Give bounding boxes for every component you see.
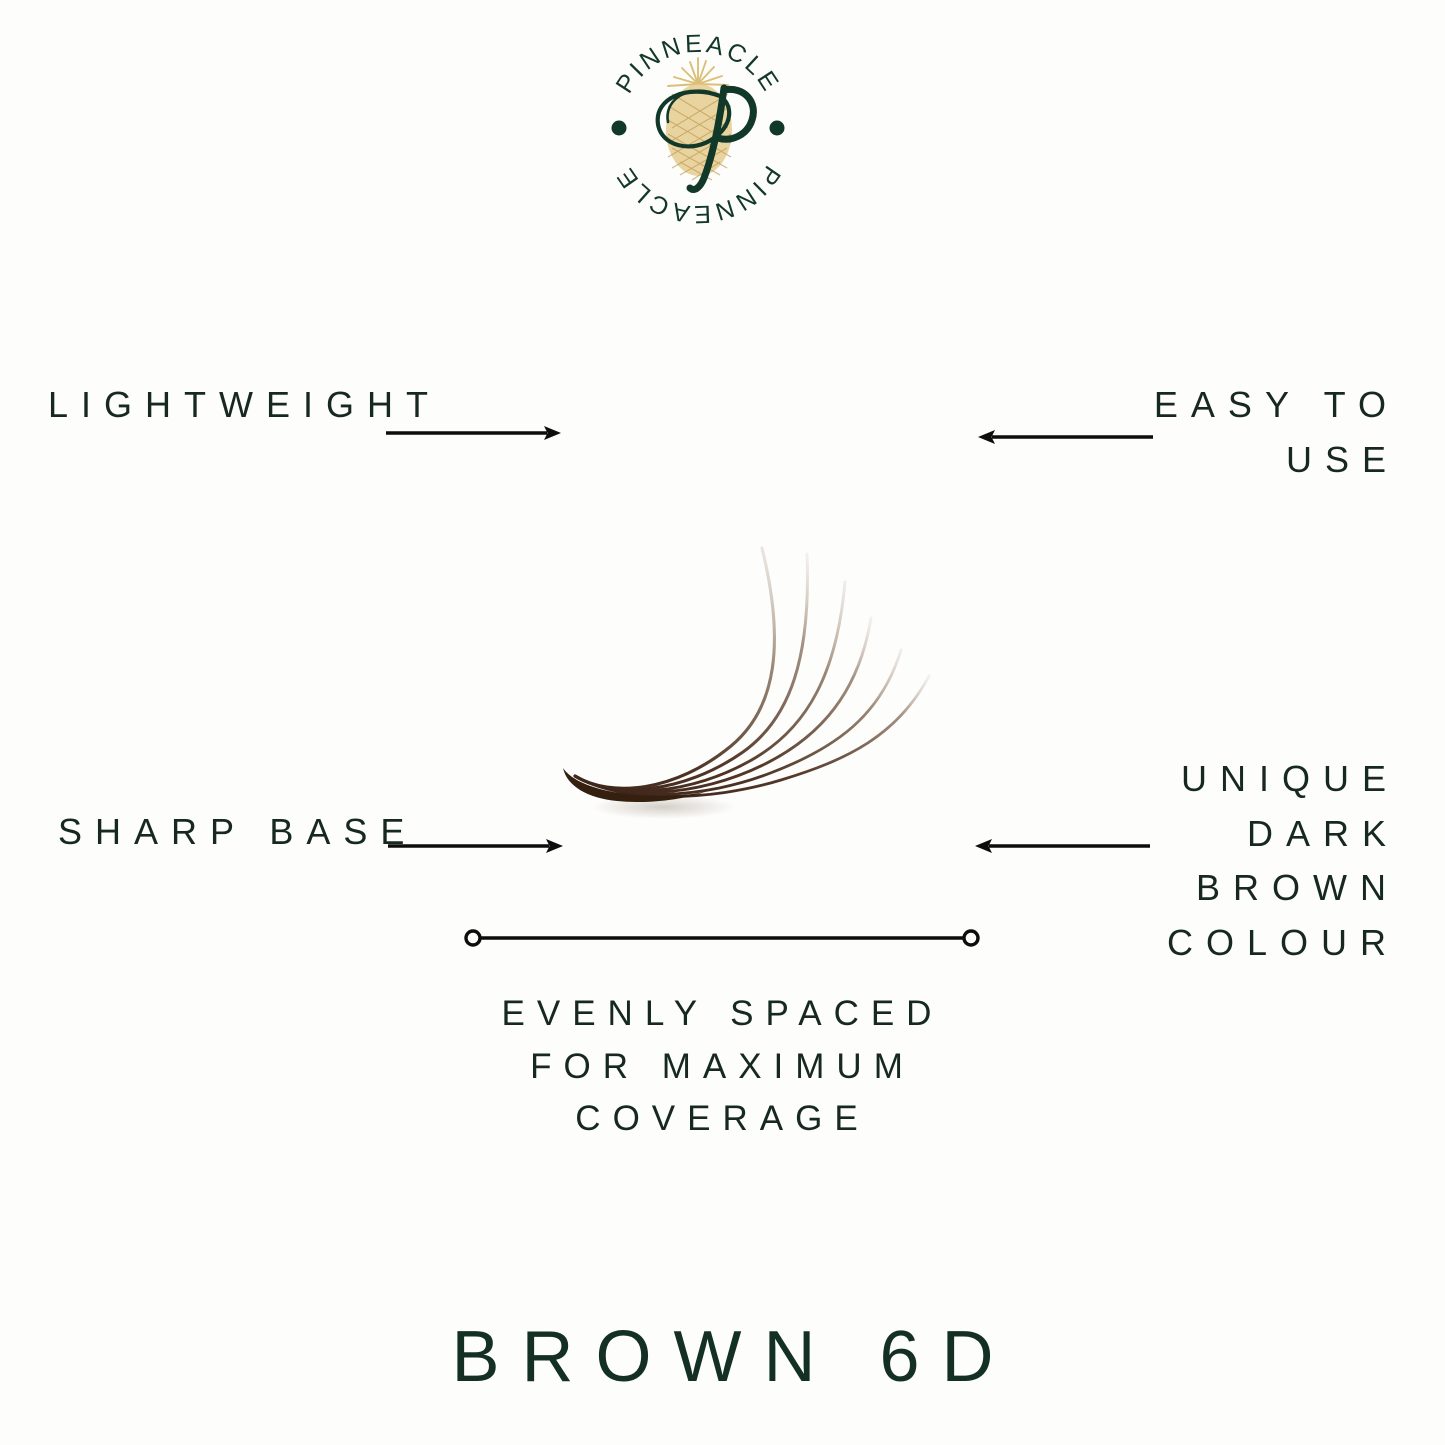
dimension-line-icon (462, 925, 982, 953)
feature-label-sharp-base: SHARP BASE (58, 805, 417, 860)
brand-logo-svg: PINNEACLE PINNEACLE (592, 22, 824, 234)
arrow-right-icon-lightweight (386, 421, 561, 445)
lash-fan-svg (545, 530, 965, 850)
dimension-endpoint-left (466, 931, 480, 945)
arrow-right-icon-sharp-base (388, 834, 563, 858)
arrow-left-icon-easy-to-use (978, 425, 1153, 449)
feature-label-evenly-spaced-for-maximum-coverage: EVENLY SPACED FOR MAXIMUM COVERAGE (0, 988, 1445, 1146)
brand-logo: PINNEACLE PINNEACLE (592, 22, 824, 234)
product-title: BROWN 6D (0, 1318, 1445, 1397)
dimension-endpoint-right (964, 931, 978, 945)
logo-separator-dot-right (770, 121, 785, 136)
feature-label-unique-dark-brown-colour: UNIQUE DARK BROWN COLOUR (969, 752, 1399, 971)
product-infographic: PINNEACLE PINNEACLE (0, 0, 1445, 1445)
lash-strands (575, 548, 929, 796)
feature-label-lightweight: LIGHTWEIGHT (48, 378, 441, 433)
logo-separator-dot-left (612, 121, 627, 136)
lash-fan-product-image (545, 530, 965, 850)
arrow-left-icon-unique-dark-brown-colour (975, 834, 1150, 858)
